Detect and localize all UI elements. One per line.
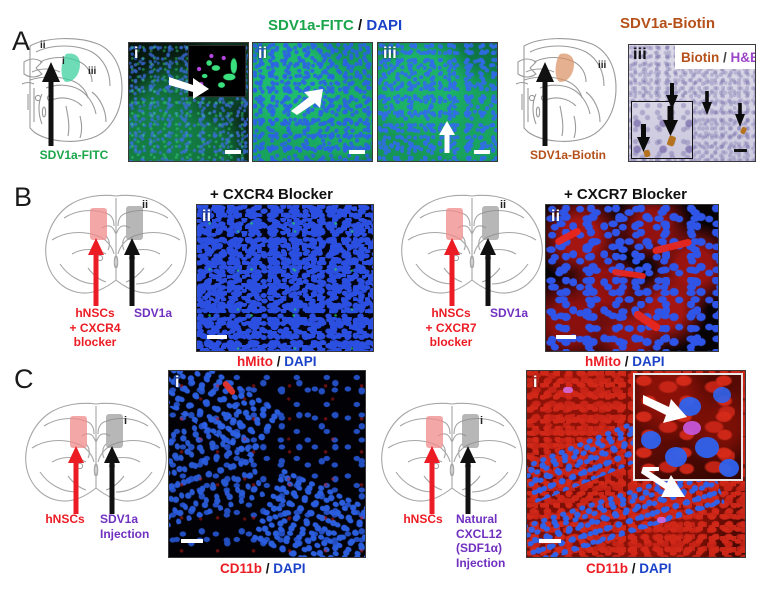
micrograph-c-right-roman: i (533, 375, 538, 391)
micrograph-a-ii[interactable]: ii (252, 42, 373, 162)
cd11b-magenta-dot-1 (563, 387, 573, 393)
injection-arrow-hnsc-c-left (66, 446, 86, 514)
dapi-nucleus-i3 (695, 437, 719, 458)
schematic-label-hnscs-c-right: hNSCs (388, 512, 458, 527)
panel-a-title-part2: DAPI (366, 17, 402, 34)
injection-arrow-biotin (534, 62, 556, 146)
region-label-iii-a-right: iii (598, 60, 606, 71)
panel-letter-c: C (14, 366, 34, 393)
scalebar-a-iii (474, 150, 490, 154)
scalebar-a-ii (349, 150, 365, 154)
scalebar-b-right (556, 335, 576, 339)
region-label-iii-a-left: iii (88, 66, 96, 77)
black-arrow-biotin-2 (701, 91, 713, 120)
black-arrow-biotin-3 (734, 103, 746, 132)
schematic-label-sdv1a-b-left: SDV1a (120, 306, 186, 321)
dapi-nucleus-i1 (641, 431, 661, 449)
injection-arrow-fitc (40, 62, 62, 146)
micrograph-c-left-roman: i (175, 375, 180, 391)
c-left-caption-part1: CD11b (220, 561, 262, 576)
panel-b-right-caption: hMito / DAPI (585, 355, 665, 369)
brain-schematic-coronal-c-left (22, 400, 170, 508)
scalebar-a-i (225, 150, 241, 154)
micrograph-a-biotin-roman: iii (633, 47, 647, 63)
scalebar-a-biotin (734, 149, 747, 152)
micrograph-b-left-content (197, 205, 373, 351)
panel-letter-b: B (14, 184, 32, 211)
c-left-caption-part2: DAPI (273, 561, 305, 576)
white-arrow-a-i (169, 73, 211, 108)
schematic-label-sdv1a-biotin: SDV1a-Biotin (512, 148, 624, 163)
brain-schematic-coronal-b-right (398, 192, 546, 300)
c-right-caption-part2: DAPI (639, 561, 671, 576)
biotin-overlay-separator: / (719, 50, 730, 65)
white-arrow-a-iii (438, 121, 456, 158)
injection-arrow-hnsc-c-right (422, 446, 442, 514)
region-label-ii-b-right: ii (500, 199, 506, 211)
c-right-purple-line4: Injection (456, 556, 546, 571)
brain-schematic-coronal-c-right (378, 400, 526, 508)
micrograph-b-right-roman: ii (551, 209, 560, 225)
brain-schematic-coronal-b-left (42, 192, 190, 300)
scalebar-b-left (207, 335, 227, 339)
b-right-caption-separator: / (621, 354, 632, 369)
biotin-overlay-part2: H&E (731, 50, 756, 65)
micrograph-b-left[interactable]: ii (196, 204, 374, 352)
b-right-caption-part2: DAPI (632, 354, 664, 369)
biotin-overlay-part1: Biotin (681, 50, 719, 65)
micrograph-b-right-content (546, 205, 718, 351)
b-left-caption-separator: / (273, 354, 284, 369)
micrograph-a-i[interactable]: i (128, 42, 249, 162)
scalebar-c-right (539, 539, 561, 543)
panel-c-left-caption: CD11b / DAPI (220, 562, 306, 576)
injection-arrow-hnsc-b-left (86, 238, 106, 306)
micrograph-b-right[interactable]: ii (545, 204, 719, 352)
region-label-ii-b-left: ii (142, 199, 148, 211)
scalebar-c-left (181, 539, 203, 543)
micrograph-a-iii[interactable]: iii (377, 42, 498, 162)
schematic-label-sdv1a-fitc: SDV1a-FITC (22, 148, 126, 163)
c-left-caption-separator: / (262, 561, 273, 576)
micrograph-a-i-roman: i (134, 46, 139, 62)
region-label-ii-a-left: ii (40, 40, 46, 51)
micrograph-a-iii-roman: iii (383, 46, 397, 62)
dapi-nucleus-i4 (719, 459, 739, 477)
c-right-caption-separator: / (628, 561, 639, 576)
micrograph-c-left[interactable]: i (168, 370, 366, 558)
panel-c-right-caption: CD11b / DAPI (586, 562, 672, 576)
dapi-nucleus-i6 (713, 387, 731, 403)
black-arrow-biotin-1 (665, 83, 679, 114)
schematic-label-hnscs-c-left: hNSCs (30, 512, 100, 527)
injection-arrow-sdv1a-b-left (122, 238, 142, 306)
panel-a-title-part1: SDV1a-FITC (268, 17, 354, 34)
biotin-panel-title: SDV1a-Biotin (620, 16, 715, 31)
panel-b-left-caption: hMito / DAPI (237, 355, 317, 369)
hnscs-right-line2: + CXCR7 (396, 321, 506, 336)
region-label-i-c-left: i (124, 415, 127, 427)
region-label-i-c-right: i (480, 415, 483, 427)
cd11b-magenta-dot-2 (657, 517, 666, 523)
figure-canvas: A (0, 0, 767, 599)
micrograph-a-biotin[interactable]: iii Biotin / H&E (628, 44, 756, 162)
injection-arrow-sdv1a-b-right (478, 238, 498, 306)
injection-arrow-hnsc-b-right (442, 238, 462, 306)
micrograph-a-ii-roman: ii (258, 46, 267, 62)
micrograph-b-left-roman: ii (202, 209, 211, 225)
panel-a-title: SDV1a-FITC / DAPI (268, 18, 402, 33)
panel-b-right-title: + CXCR7 Blocker (564, 187, 687, 202)
b-left-caption-part2: DAPI (284, 354, 316, 369)
micrograph-c-right[interactable]: i (526, 370, 746, 558)
panel-a-title-separator: / (354, 17, 367, 34)
white-arrow-c-right (641, 463, 689, 510)
c-right-caption-part1: CD11b (586, 561, 628, 576)
inset-a-biotin[interactable] (631, 101, 693, 159)
injection-arrow-sdv1a-c-left (102, 446, 122, 514)
hnscs-right-line3: blocker (396, 335, 506, 350)
white-arrow-a-ii (289, 85, 325, 120)
biotin-he-overlay-label: Biotin / H&E (681, 51, 756, 65)
brain-schematic-sagittal-biotin (516, 32, 620, 144)
hnscs-line2: + CXCR4 (40, 321, 150, 336)
schematic-label-sdv1a-b-right: SDV1a (476, 306, 542, 321)
micrograph-c-left-content (169, 371, 365, 557)
panel-b-left-title: + CXCR4 Blocker (210, 187, 333, 202)
injection-arrow-cxcl12-c-right (458, 446, 478, 514)
white-arrow-c-inset (643, 393, 689, 432)
hnscs-line3: blocker (40, 335, 150, 350)
brain-schematic-sagittal-fitc (22, 32, 126, 144)
black-arrow-inset-biotin-1 (636, 124, 651, 157)
region-label-i-a-left: i (62, 56, 65, 67)
b-left-caption-part1: hMito (237, 354, 273, 369)
b-right-caption-part1: hMito (585, 354, 621, 369)
